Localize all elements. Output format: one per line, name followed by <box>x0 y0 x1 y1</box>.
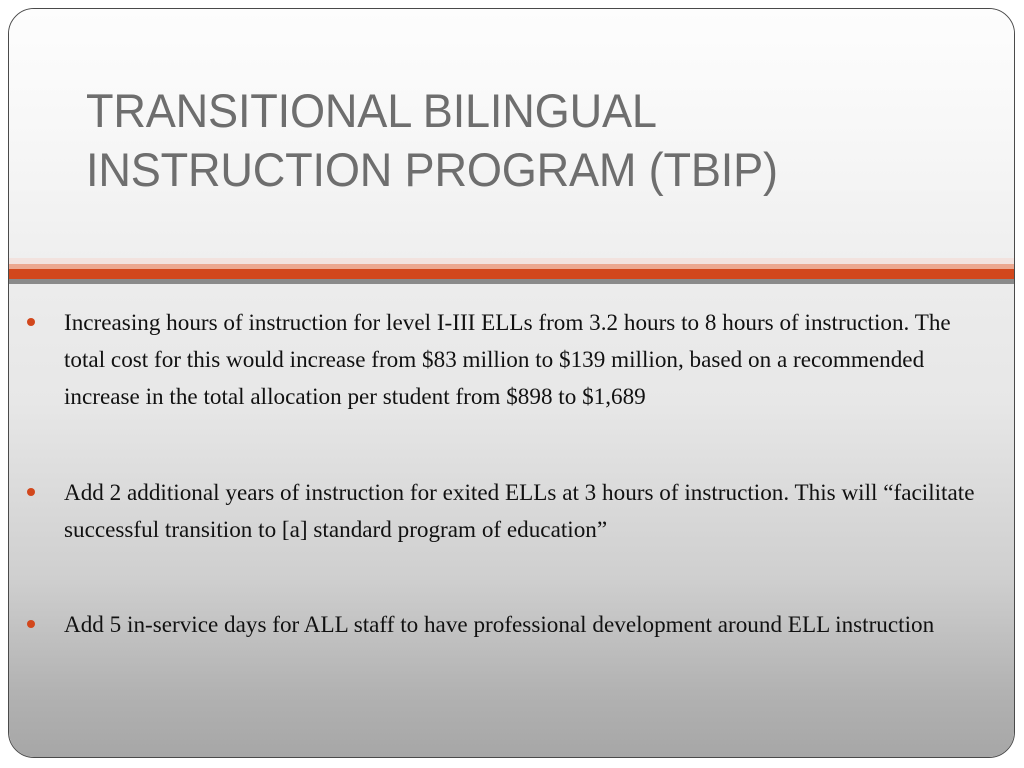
list-item-text: Add 2 additional years of instruction fo… <box>64 475 988 549</box>
list-item: Increasing hours of instruction for leve… <box>9 305 1014 416</box>
list-item: Add 5 in-service days for ALL staff to h… <box>9 607 1014 644</box>
slide-card: TRANSITIONAL BILINGUAL INSTRUCTION PROGR… <box>8 8 1015 758</box>
slide-title-area: TRANSITIONAL BILINGUAL INSTRUCTION PROGR… <box>9 9 1014 258</box>
bullet-list: Increasing hours of instruction for leve… <box>9 284 1014 644</box>
list-item: Add 2 additional years of instruction fo… <box>9 475 1014 549</box>
list-item-text: Add 5 in-service days for ALL staff to h… <box>64 607 975 644</box>
round-bullet-icon <box>27 620 35 628</box>
title-divider <box>9 258 1014 284</box>
slide-root: TRANSITIONAL BILINGUAL INSTRUCTION PROGR… <box>0 0 1024 768</box>
divider-rule-orange <box>9 269 1014 279</box>
round-bullet-icon <box>27 318 35 326</box>
round-bullet-icon <box>27 488 35 496</box>
page-title: TRANSITIONAL BILINGUAL INSTRUCTION PROGR… <box>86 81 931 199</box>
slide-body-area: Increasing hours of instruction for leve… <box>9 284 1014 758</box>
list-item-text: Increasing hours of instruction for leve… <box>64 305 988 416</box>
